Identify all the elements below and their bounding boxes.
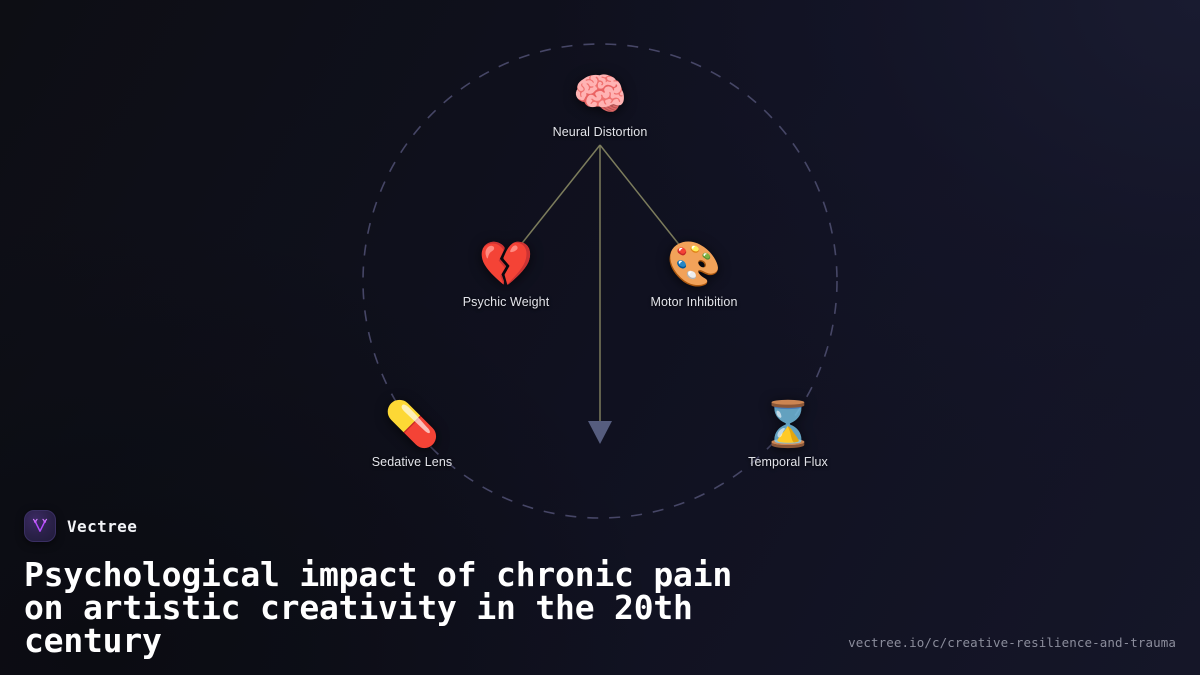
graph-node-neural-distortion[interactable]: 🧠 Neural Distortion — [505, 69, 695, 139]
pill-emoji: 💊 — [385, 399, 440, 451]
graph-node-temporal-flux[interactable]: ⌛ Temporal Flux — [693, 399, 883, 469]
graph-node-sedative-lens[interactable]: 💊 Sedative Lens — [317, 399, 507, 469]
tree-glyph-icon — [31, 517, 49, 535]
source-url: vectree.io/c/creative-resilience-and-tra… — [848, 635, 1176, 650]
graph-node-psychic-weight[interactable]: 💔 Psychic Weight — [411, 239, 601, 309]
footer: Vectree Psychological impact of chronic … — [0, 510, 1200, 675]
graph-node-motor-inhibition[interactable]: 🎨 Motor Inhibition — [599, 239, 789, 309]
node-label-temporal-flux: Temporal Flux — [748, 455, 828, 469]
node-label-neural-distortion: Neural Distortion — [553, 125, 648, 139]
node-label-sedative-lens: Sedative Lens — [372, 455, 453, 469]
canvas-background: 🧠 Neural Distortion 💔 Psychic Weight 🎨 M… — [0, 0, 1200, 675]
brand-row[interactable]: Vectree — [24, 510, 1176, 542]
node-label-motor-inhibition: Motor Inhibition — [650, 295, 737, 309]
edge-neural-to-psychic — [519, 145, 600, 247]
edge-neural-to-motor — [600, 145, 681, 247]
vectree-logo-icon — [24, 510, 56, 542]
brand-name: Vectree — [67, 517, 137, 536]
node-label-psychic-weight: Psychic Weight — [463, 295, 550, 309]
hourglass-emoji: ⌛ — [761, 399, 816, 451]
artist-palette-emoji: 🎨 — [667, 239, 722, 291]
brain-emoji: 🧠 — [573, 69, 628, 121]
arrowhead-icon — [588, 421, 612, 444]
page-title: Psychological impact of chronic pain on … — [24, 558, 834, 657]
broken-heart-emoji: 💔 — [479, 239, 534, 291]
